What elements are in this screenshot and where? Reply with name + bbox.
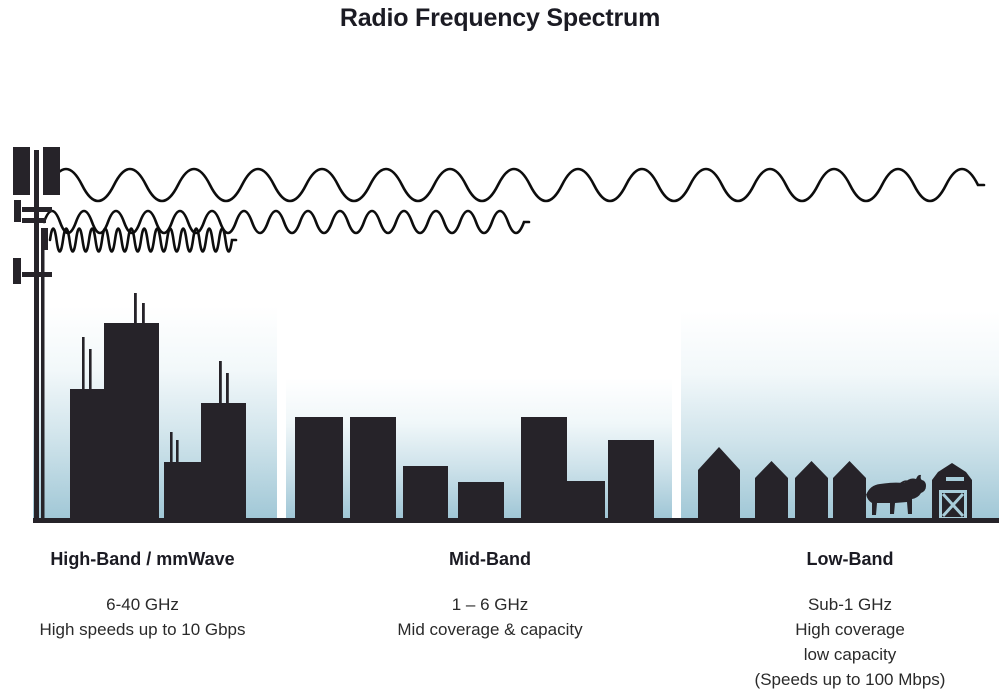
spectrum-illustration	[0, 0, 1000, 540]
skyline-spire	[89, 349, 92, 389]
tower-crossbar-1	[22, 207, 52, 212]
tower-crossbar-3	[22, 272, 52, 277]
band-detail-low-band-2: low capacity	[700, 642, 1000, 667]
infographic-root: Radio Frequency Spectrum	[0, 0, 1000, 700]
ground-line	[33, 518, 999, 523]
tower-mast	[34, 150, 39, 522]
skyline-spire	[219, 361, 222, 403]
band-detail-mid-band: Mid coverage & capacity	[340, 617, 640, 642]
band-frequency-low-band: Sub-1 GHz	[700, 592, 1000, 617]
suburb-building	[403, 466, 448, 520]
band-label-low-band: Low-Band	[700, 549, 1000, 570]
suburb-building	[458, 482, 504, 520]
tower-antenna-panel-5	[13, 258, 21, 284]
band-detail-high-band: High speeds up to 10 Gbps	[0, 617, 285, 642]
high-band-wave	[50, 229, 236, 252]
band-frequency-mid-band: 1 – 6 GHz	[340, 592, 640, 617]
band-description-high-band: 6-40 GHz High speeds up to 10 Gbps	[0, 592, 285, 642]
band-label-mid-band: Mid-Band	[340, 549, 640, 570]
band-detail-low-band-1: High coverage	[700, 617, 1000, 642]
suburb-building	[295, 417, 343, 520]
skyline-spire	[176, 440, 179, 462]
band-frequency-high-band: 6-40 GHz	[0, 592, 285, 617]
tower-antenna-panel-4	[41, 228, 48, 250]
band-description-mid-band: 1 – 6 GHz Mid coverage & capacity	[340, 592, 640, 642]
tower-antenna-panel-2	[43, 147, 60, 195]
band-detail-low-band-3: (Speeds up to 100 Mbps)	[700, 667, 1000, 692]
skyline-spire	[170, 432, 173, 462]
suburb-building	[521, 417, 567, 520]
skyline-spire	[82, 337, 85, 389]
band-description-low-band: Sub-1 GHz High coverage low capacity (Sp…	[700, 592, 1000, 693]
low-band-wave	[50, 169, 984, 201]
city-building	[201, 403, 246, 520]
radio-waves	[44, 169, 984, 252]
tower-antenna-panel-3	[14, 200, 21, 222]
tower-crossbar-2	[22, 218, 46, 223]
skyline-spire	[226, 373, 229, 403]
city-building	[104, 323, 159, 520]
suburb-building	[350, 417, 396, 520]
tower-antenna-panel-1	[13, 147, 30, 195]
band-label-high-band: High-Band / mmWave	[0, 549, 285, 570]
suburb-building	[567, 481, 605, 520]
suburb-building	[608, 440, 654, 520]
